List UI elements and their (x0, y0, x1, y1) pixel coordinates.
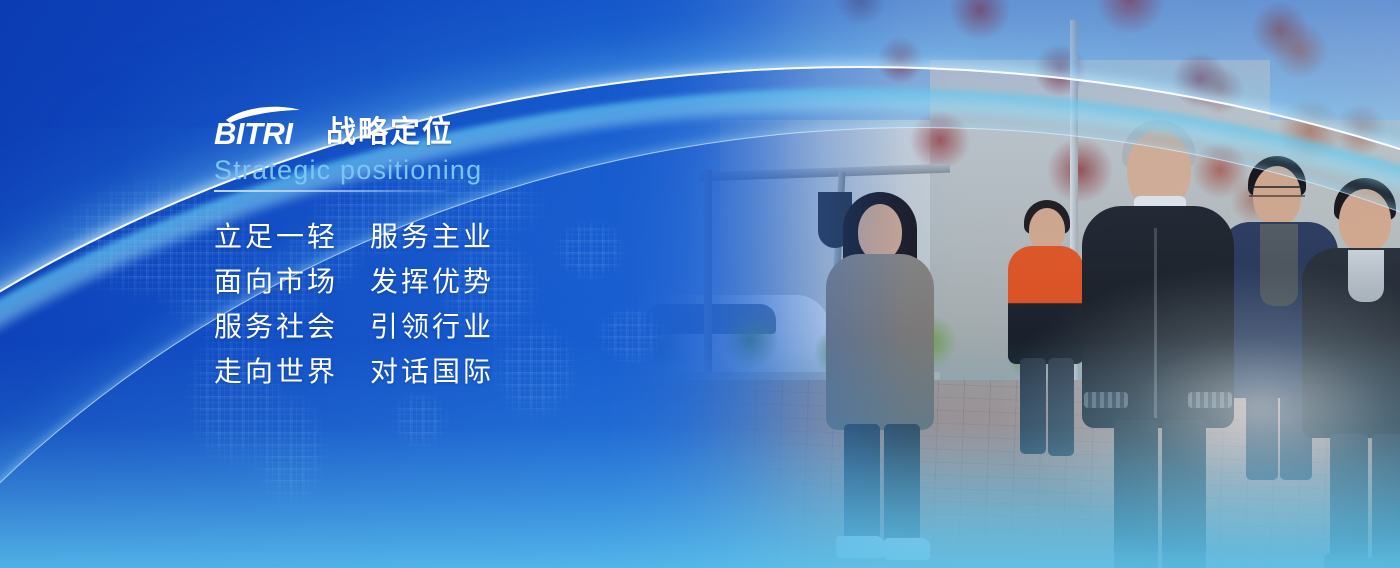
bitri-logo: BITRI (214, 104, 312, 150)
slogan-left: 立足一轻 (214, 214, 370, 259)
brand-title-cn: 战略定位 (326, 116, 454, 150)
slogan-list: 立足一轻 服务主业 面向市场 发挥优势 服务社会 引领行业 走向世界 对话国际 (214, 214, 634, 394)
slogan-row: 服务社会 引领行业 (214, 304, 634, 349)
headline-block: BITRI 战略定位 Strategic positioning 立足一轻 服务… (214, 104, 634, 394)
person-man-black-jacket-leader (1078, 120, 1238, 568)
slogan-left: 面向市场 (214, 259, 370, 304)
shoe-left (836, 536, 884, 558)
coat (826, 254, 934, 430)
orange-jacket (1008, 246, 1084, 364)
jacket-zipper (1154, 228, 1157, 418)
slogan-row: 面向市场 发挥优势 (214, 259, 634, 304)
head (1339, 189, 1391, 253)
inner-shirt (1260, 224, 1298, 306)
leg-right (1372, 434, 1400, 564)
leg-left (1330, 434, 1368, 562)
slogan-left: 服务社会 (214, 304, 370, 349)
svg-text:BITRI: BITRI (214, 116, 294, 150)
slogan-row: 立足一轻 服务主业 (214, 214, 634, 259)
team-walking-photo (600, 0, 1400, 568)
shoe-right (1370, 556, 1400, 568)
glasses-icon (1249, 186, 1305, 197)
shoe-right (884, 538, 930, 560)
leg-left (844, 424, 880, 542)
slogan-row: 走向世界 对话国际 (214, 349, 634, 394)
leg-right (884, 424, 920, 544)
slogan-right: 发挥优势 (370, 259, 494, 304)
divider-rule (214, 190, 446, 192)
inner-shirt (1348, 250, 1384, 302)
leg-left (1020, 358, 1046, 454)
person-man-dark-jacket-right (1300, 178, 1400, 568)
slogan-right: 引领行业 (370, 304, 494, 349)
brand-lockup: BITRI 战略定位 (214, 104, 634, 150)
slogan-right: 对话国际 (370, 349, 494, 394)
bitri-wordmark: BITRI (214, 104, 312, 150)
strategic-positioning-banner: BITRI 战略定位 Strategic positioning 立足一轻 服务… (0, 0, 1400, 568)
head (858, 204, 902, 260)
brand-subtitle-en: Strategic positioning (214, 154, 634, 186)
person-woman-grey-coat (818, 192, 943, 568)
cuff-right (1188, 392, 1232, 408)
cuff-left (1084, 392, 1128, 408)
shoe-left (1324, 554, 1370, 568)
leg-left (1114, 420, 1158, 568)
leg-right (1048, 358, 1074, 456)
slogan-left: 走向世界 (214, 349, 370, 394)
leg-right (1162, 420, 1206, 568)
leg-left (1246, 394, 1278, 480)
slogan-right: 服务主业 (370, 214, 494, 259)
